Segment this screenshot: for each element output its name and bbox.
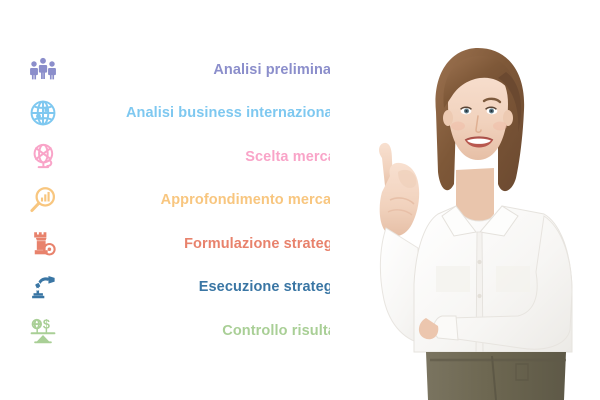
step-label: Controllo risultati [222, 323, 345, 339]
step-label: Analisi preliminare [213, 62, 345, 78]
balance-globe-dollar-icon: $ [28, 316, 58, 346]
step-label: Approfondimento mercato [161, 192, 345, 208]
step-item-analisi-preliminare[interactable]: Analisi preliminare [0, 48, 352, 92]
step-item-controllo-risultati[interactable]: $ Controllo risultati [0, 309, 352, 353]
presenter-photo [330, 0, 600, 400]
globe-grid-icon [28, 98, 58, 128]
step-item-approfondimento-mercato[interactable]: Approfondimento mercato [0, 179, 352, 223]
step-item-esecuzione-strategia[interactable]: Esecuzione strategia [0, 266, 352, 310]
people-group-icon [28, 55, 58, 85]
desk-globe-icon [28, 142, 58, 172]
step-label: Analisi business internazionale [126, 105, 345, 121]
process-steps-list: Analisi preliminare [0, 48, 352, 353]
magnifier-barchart-icon [28, 185, 58, 215]
chess-rook-target-icon [28, 229, 58, 259]
step-label: Formulazione strategia [184, 236, 345, 252]
step-label: Esecuzione strategia [199, 279, 345, 295]
slide-canvas: Analisi preliminare [0, 0, 600, 400]
step-item-formulazione-strategia[interactable]: Formulazione strategia [0, 222, 352, 266]
step-item-analisi-business-internazionale[interactable]: Analisi business internazionale [0, 92, 352, 136]
step-item-scelta-mercati[interactable]: Scelta mercati [0, 135, 352, 179]
robot-arm-icon [28, 272, 58, 302]
